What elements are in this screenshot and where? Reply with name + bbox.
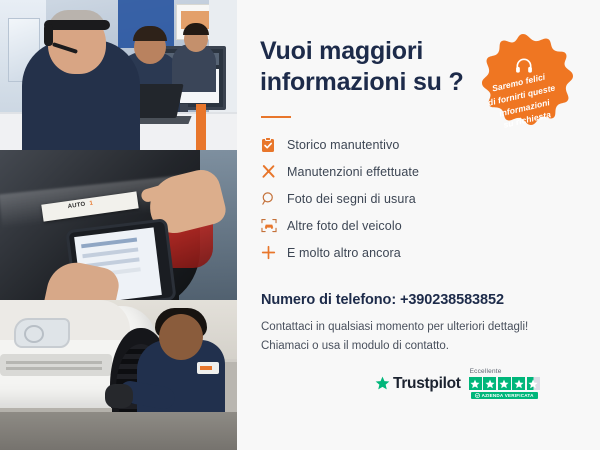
advertisement-banner: AUTO1 Vuoi maggiori informaz bbox=[0, 0, 600, 450]
star-half-5 bbox=[527, 377, 540, 390]
star-filled-3 bbox=[498, 377, 511, 390]
verified-check-icon bbox=[475, 393, 480, 398]
trustpilot-name: Trustpilot bbox=[393, 375, 461, 393]
contact-line-2: Chiamaci o usa il modulo di contatto. bbox=[261, 337, 551, 356]
page-title: Vuoi maggiori informazioni su ? bbox=[260, 36, 475, 97]
photo-column: AUTO1 bbox=[0, 0, 237, 450]
list-item-label: Storico manutentivo bbox=[287, 138, 399, 152]
desk-leg-decor bbox=[196, 104, 206, 150]
availability-badge: Saremo felici di fornirti queste informa… bbox=[469, 32, 577, 144]
lift-platform-decor bbox=[0, 412, 237, 450]
mechanic-glove-decor bbox=[105, 384, 133, 408]
photo-wheel-inspection bbox=[0, 300, 237, 450]
headset-band-decor bbox=[44, 20, 110, 30]
phone-number-label[interactable]: Numero di telefono: +390238583852 bbox=[261, 292, 504, 308]
photo-damage-inspection: AUTO1 bbox=[0, 150, 237, 300]
contact-line-1: Contattaci in qualsiasi momento per ulte… bbox=[261, 318, 551, 337]
list-item-label: Manutenzioni effettuate bbox=[287, 165, 419, 179]
car-grille-decor bbox=[0, 354, 112, 376]
uniform-logo-decor bbox=[197, 362, 219, 374]
magnifier-icon bbox=[261, 191, 287, 206]
trustpilot-rating: Eccellente bbox=[469, 368, 540, 399]
list-item: Manutenzioni effettuate bbox=[261, 158, 491, 185]
star-filled-2 bbox=[483, 377, 496, 390]
trustpilot-logo: Trustpilot bbox=[375, 375, 461, 393]
star-filled-4 bbox=[512, 377, 525, 390]
verified-label: AZIENDA VERIFICATA bbox=[482, 393, 534, 398]
rating-label: Eccellente bbox=[470, 368, 502, 375]
list-item: Altre foto del veicolo bbox=[261, 212, 491, 239]
scan-car-icon bbox=[261, 218, 287, 233]
plus-icon bbox=[261, 245, 287, 260]
list-item: Foto dei segni di usura bbox=[261, 185, 491, 212]
contact-description: Contattaci in qualsiasi momento per ulte… bbox=[261, 318, 551, 355]
trustpilot-widget[interactable]: Trustpilot Eccellente bbox=[375, 368, 540, 399]
list-item: Storico manutentivo bbox=[261, 131, 491, 158]
list-item: E molto altro ancora bbox=[261, 239, 491, 266]
trustpilot-star-icon bbox=[375, 376, 390, 391]
clipboard-check-icon bbox=[261, 137, 287, 153]
star-filled-1 bbox=[469, 377, 482, 390]
headlight-decor bbox=[14, 318, 70, 348]
mechanic-head-decor bbox=[159, 314, 203, 360]
list-item-label: E molto altro ancora bbox=[287, 246, 401, 260]
tools-cross-icon bbox=[261, 164, 287, 179]
title-underline-rule bbox=[261, 116, 291, 118]
photo-call-center bbox=[0, 0, 237, 150]
feature-list: Storico manutentivo Manutenzioni effettu… bbox=[261, 131, 491, 266]
content-panel: Vuoi maggiori informazioni su ? Saremo f… bbox=[237, 0, 600, 450]
list-item-label: Altre foto del veicolo bbox=[287, 219, 402, 233]
list-item-label: Foto dei segni di usura bbox=[287, 192, 416, 206]
headset-earcup-decor bbox=[44, 24, 53, 46]
star-rating bbox=[469, 377, 540, 390]
verified-company-badge: AZIENDA VERIFICATA bbox=[471, 392, 538, 399]
